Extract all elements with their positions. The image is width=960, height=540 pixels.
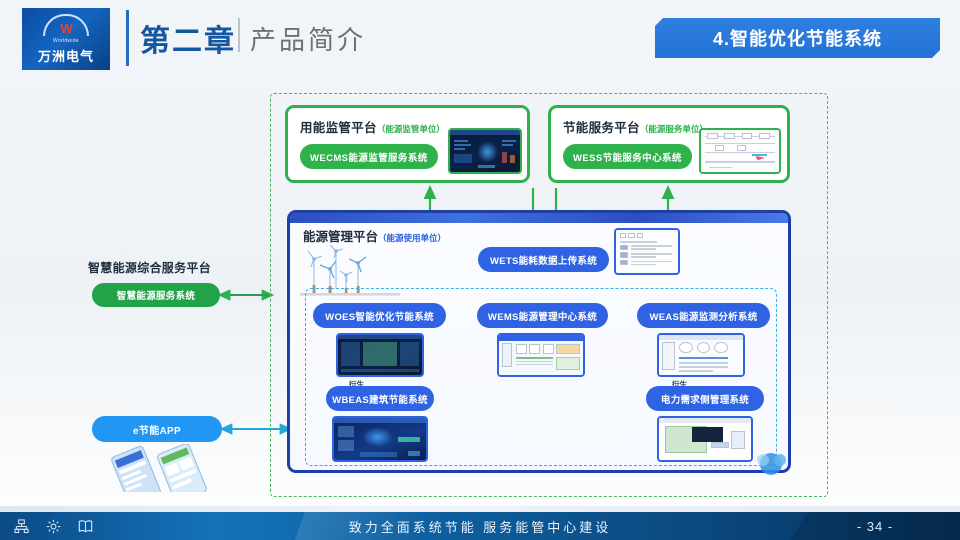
woes-screenshot-thumb[interactable] bbox=[336, 333, 424, 377]
platform-card-service[interactable]: 节能服务平台（能源服务单位） WESS节能服务中心系统 bbox=[548, 105, 790, 183]
weas-screenshot-thumb[interactable] bbox=[657, 333, 745, 377]
header-divider bbox=[238, 18, 240, 52]
panel-title-paren: （能源使用单位） bbox=[378, 233, 446, 243]
chapter-title: 第二章 bbox=[140, 16, 236, 60]
wems-screenshot-thumb[interactable] bbox=[497, 333, 585, 377]
logo-chinese: 万洲电气 bbox=[38, 46, 94, 65]
page-subtitle: 产品简介 bbox=[250, 20, 366, 57]
left-rail-title: 智慧能源综合服务平台 bbox=[88, 259, 211, 276]
logo-english: Worldwide bbox=[53, 38, 79, 44]
wbeas-screenshot-thumb[interactable] bbox=[332, 416, 428, 462]
logo-letter: W bbox=[60, 22, 71, 35]
platform-card-title: 用能监管平台（能源监管单位） bbox=[300, 117, 445, 136]
wems-system-pill[interactable]: WEMS能源管理中心系统 bbox=[477, 303, 608, 328]
wess-screenshot-thumb[interactable] bbox=[699, 128, 781, 174]
e-energy-app-pill[interactable]: e节能APP bbox=[92, 416, 222, 442]
demand-side-system-pill[interactable]: 电力需求侧管理系统 bbox=[646, 386, 764, 411]
wecms-screenshot-thumb[interactable] bbox=[448, 128, 522, 174]
wets-upload-pill[interactable]: WETS能耗数据上传系统 bbox=[478, 247, 609, 272]
platform-card-title: 节能服务平台（能源服务单位） bbox=[563, 117, 708, 136]
section-badge: 4.智能优化节能系统 bbox=[655, 18, 940, 58]
demand-side-screenshot-thumb[interactable] bbox=[657, 416, 753, 462]
slide-canvas: W Worldwide 万洲电气 第二章 产品简介 4.智能优化节能系统 bbox=[0, 0, 960, 540]
logo-mark-icon: W bbox=[43, 14, 89, 36]
platform-card-paren: （能源服务单位） bbox=[640, 124, 708, 134]
phone-mockup-illustration bbox=[100, 444, 220, 492]
platform-card-paren: （能源监管单位） bbox=[377, 124, 445, 134]
platform-card-supervision[interactable]: 用能监管平台（能源监管单位） WECMS能源监管服务系统 bbox=[285, 105, 530, 183]
wets-document-thumb[interactable] bbox=[614, 228, 680, 275]
company-logo: W Worldwide 万洲电气 bbox=[22, 8, 110, 70]
smart-energy-service-pill[interactable]: 智慧能源服务系统 bbox=[92, 283, 220, 307]
panel-top-strip bbox=[290, 213, 788, 223]
page-number: - 34 - bbox=[790, 512, 960, 540]
cloud-accent-icon bbox=[754, 446, 788, 480]
wess-system-pill[interactable]: WESS节能服务中心系统 bbox=[563, 144, 692, 169]
woes-system-pill[interactable]: WOES智能优化节能系统 bbox=[313, 303, 446, 328]
footer-bar: 致力全面系统节能 服务能管中心建设 - 34 - bbox=[0, 512, 960, 540]
weas-system-pill[interactable]: WEAS能源监测分析系统 bbox=[637, 303, 770, 328]
panel-title: 能源管理平台（能源使用单位） bbox=[303, 226, 446, 245]
wbeas-system-pill[interactable]: WBEAS建筑节能系统 bbox=[326, 386, 434, 411]
wecms-system-pill[interactable]: WECMS能源监管服务系统 bbox=[300, 144, 438, 169]
header-accent-bar bbox=[126, 10, 129, 66]
